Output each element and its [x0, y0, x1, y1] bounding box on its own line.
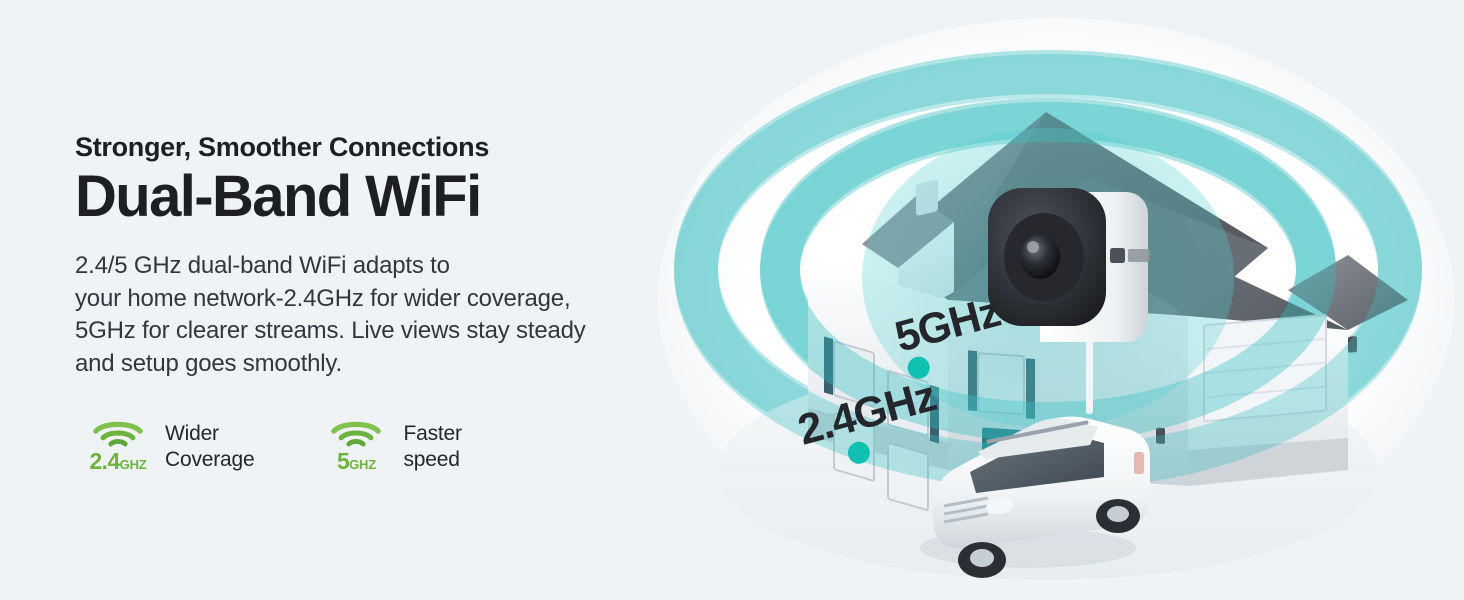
band-label: 2.4 GHZ: [89, 450, 146, 473]
product-illustration: 5GHz 2.4GHz: [648, 0, 1464, 600]
band-unit: GHZ: [120, 458, 147, 471]
page-title: Dual-Band WiFi: [75, 167, 715, 228]
wifi-signal-icon: [329, 420, 383, 447]
band-unit: GHZ: [349, 458, 376, 471]
wifi-signal-icon: [91, 420, 145, 447]
feature-badge-wider-coverage: 2.4 GHZ Wider Coverage: [82, 420, 254, 473]
feature-label: Faster speed: [403, 421, 461, 472]
band-indicator-5ghz: 5 GHZ: [320, 420, 392, 473]
car-taillight: [1134, 452, 1144, 474]
feature-badge-faster-speed: 5 GHZ Faster speed: [320, 420, 461, 473]
camera-lens-highlight: [1027, 241, 1039, 253]
eyebrow-text: Stronger, Smoother Connections: [75, 132, 715, 163]
band-number: 5: [337, 450, 349, 473]
camera-brand-badge: [1110, 248, 1150, 263]
band-number: 2.4: [89, 450, 119, 473]
camera-lens: [1020, 235, 1060, 279]
band-indicator-2.4ghz: 2.4 GHZ: [82, 420, 154, 473]
feature-badge-list: 2.4 GHZ Wider Coverage 5 GHZ Faster spee…: [82, 420, 462, 473]
promo-banner: Stronger, Smoother Connections Dual-Band…: [0, 0, 1464, 600]
body-paragraph: 2.4/5 GHz dual-band WiFi adapts to your …: [75, 250, 715, 381]
band-label: 5 GHZ: [337, 450, 376, 473]
copy-block: Stronger, Smoother Connections Dual-Band…: [75, 132, 715, 380]
feature-label: Wider Coverage: [165, 421, 254, 472]
